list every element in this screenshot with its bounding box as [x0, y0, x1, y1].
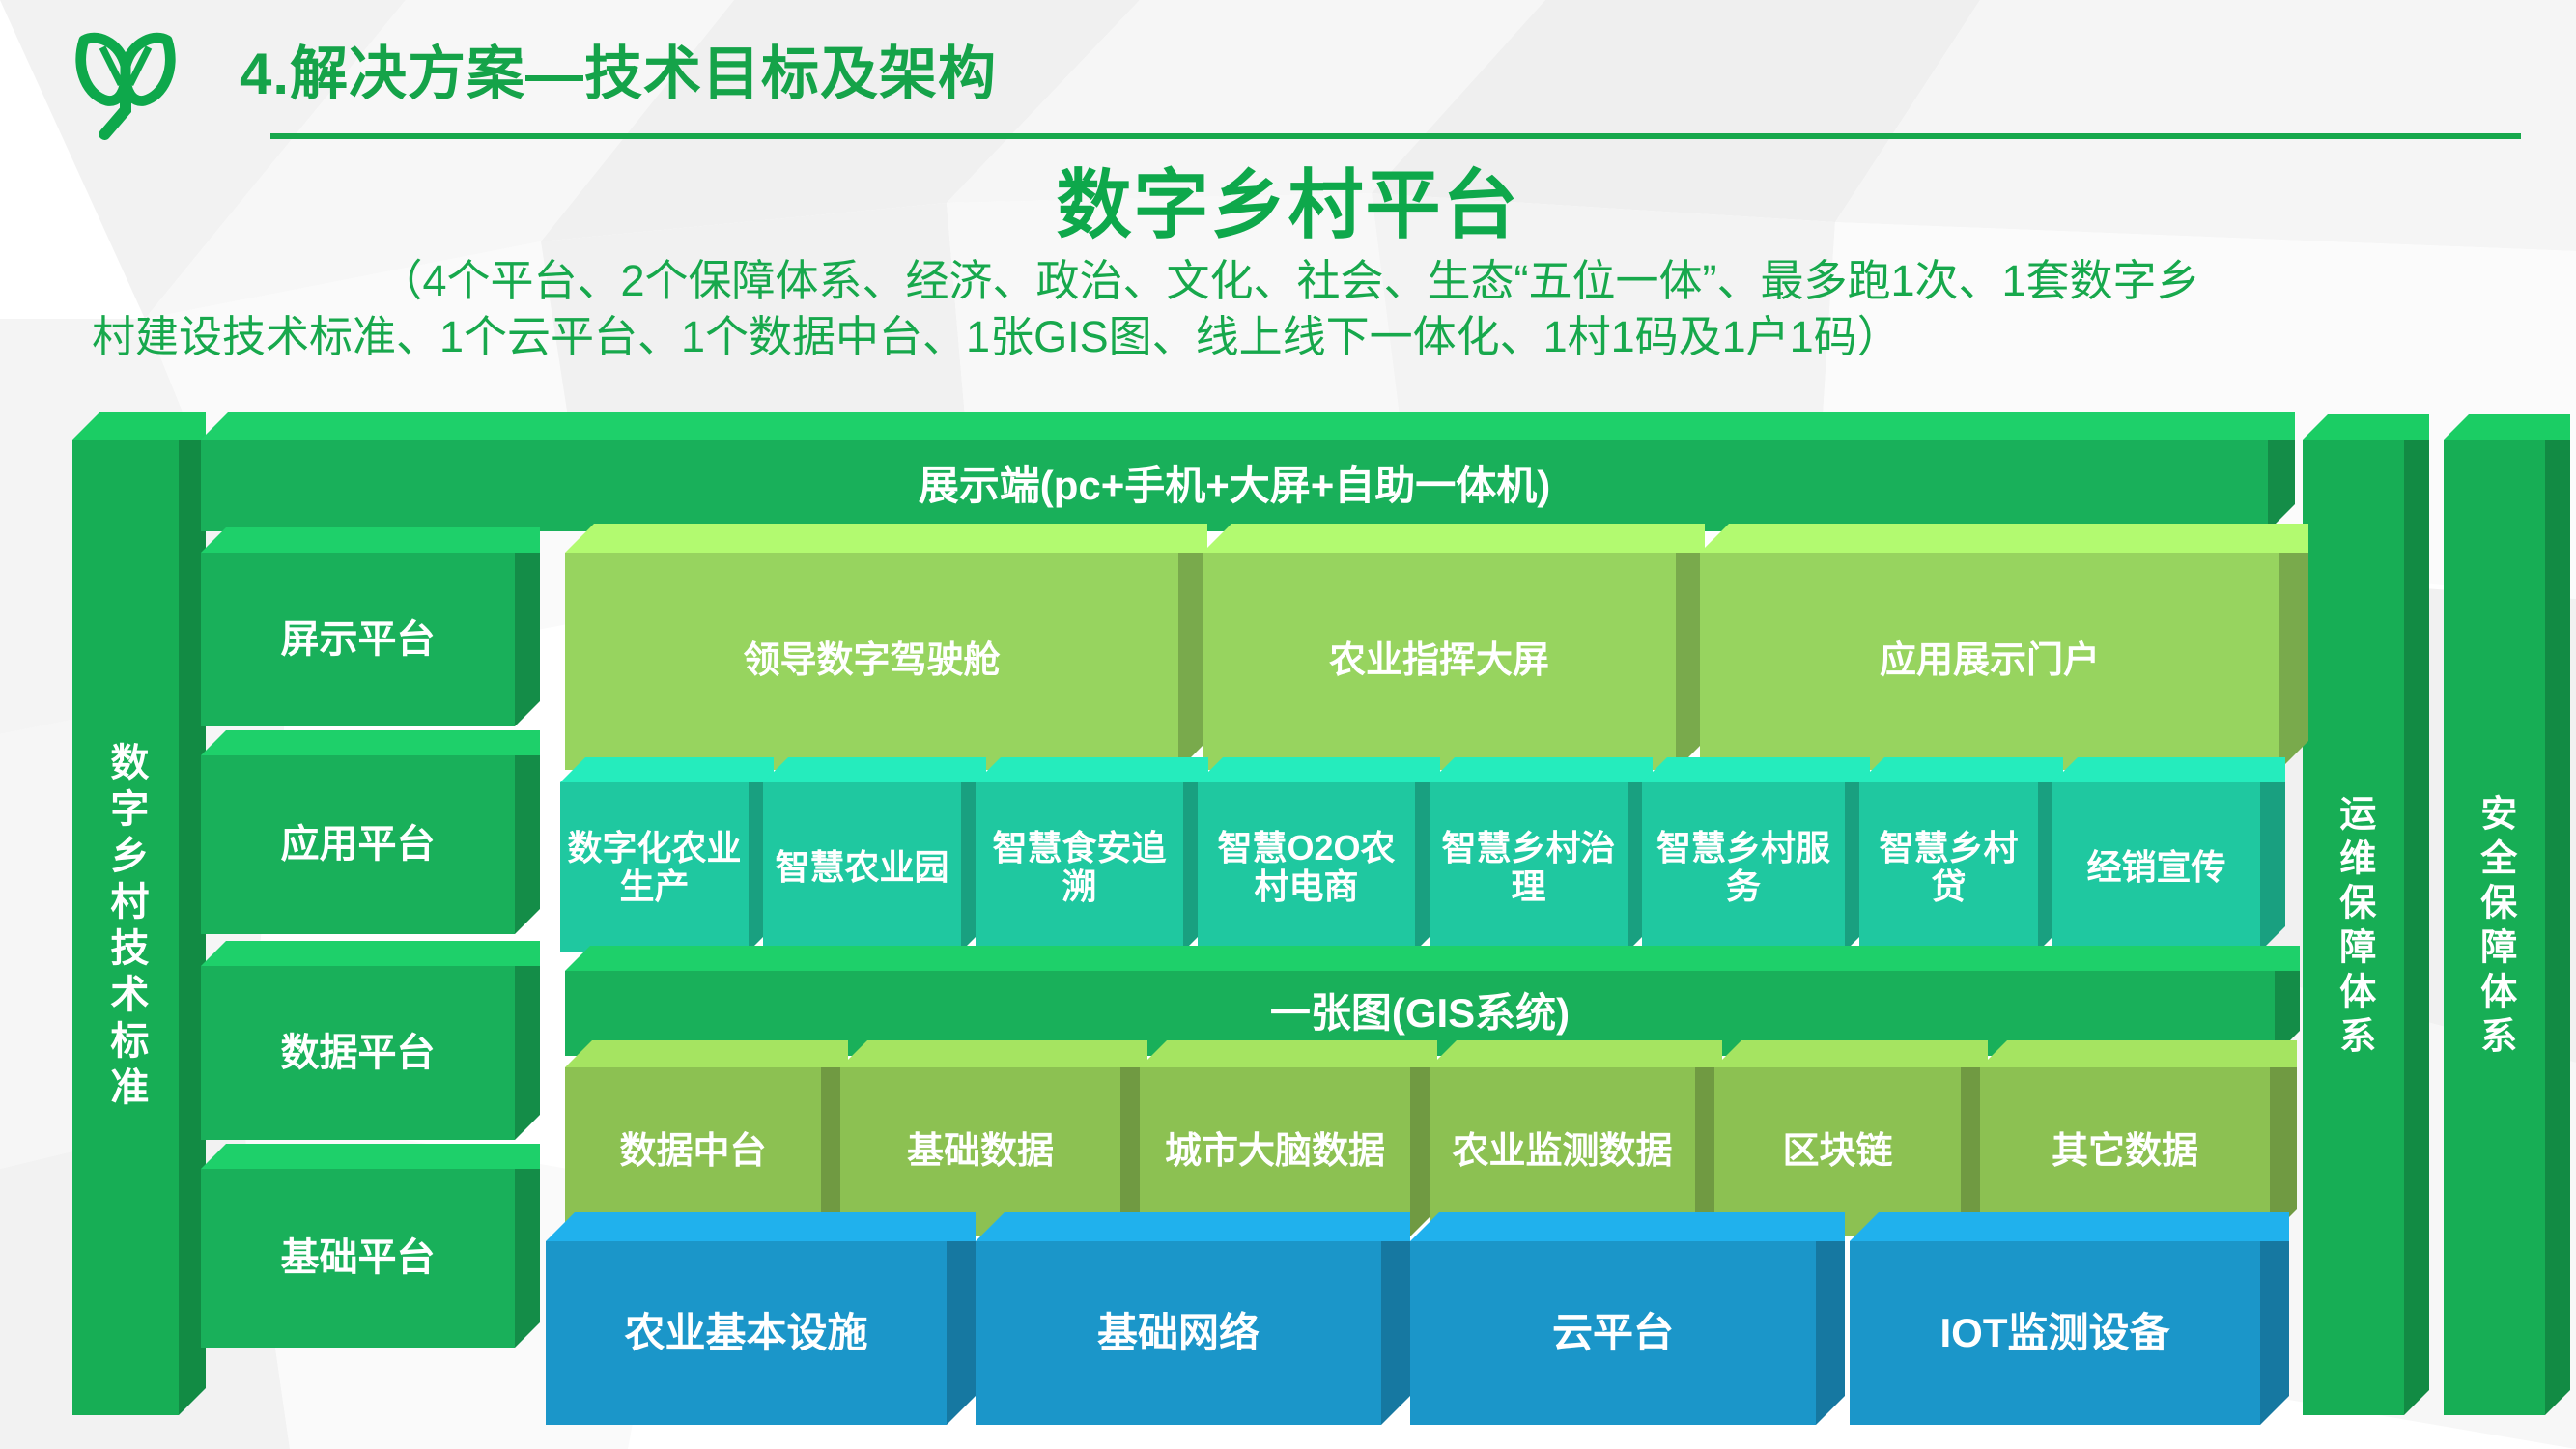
app-box-1[interactable]: 数字化农业生产: [560, 782, 749, 952]
base-box-1-label: 农业基本设施: [546, 1241, 947, 1425]
gis-band-label: 一张图(GIS系统): [565, 971, 2275, 1056]
data-box-2-label: 基础数据: [840, 1067, 1120, 1236]
app-box-7[interactable]: 智慧乡村贷: [1859, 782, 2038, 952]
box-side-face: [1816, 1241, 1845, 1425]
box-side-face: [2268, 440, 2295, 531]
data-box-3[interactable]: 城市大脑数据: [1140, 1067, 1410, 1236]
display-box-1[interactable]: 领导数字驾驶舱: [565, 553, 1178, 770]
box-top-face: [201, 412, 2295, 440]
layer-label-data-platform-label: 数据平台: [201, 966, 515, 1140]
box-top-face: [2303, 414, 2429, 440]
architecture-diagram: 数字乡村技术标准运维保障体系安全保障体系展示端(pc+手机+大屏+自助一体机)屏…: [0, 0, 2576, 1449]
app-box-3-label: 智慧食安追溯: [976, 782, 1183, 952]
base-box-1[interactable]: 农业基本设施: [546, 1241, 947, 1425]
box-side-face: [2260, 1241, 2289, 1425]
app-box-4[interactable]: 智慧O2O农村电商: [1198, 782, 1415, 952]
base-box-2-label: 基础网络: [976, 1241, 1381, 1425]
app-box-6[interactable]: 智慧乡村服务: [1642, 782, 1845, 952]
layer-label-base-platform-label: 基础平台: [201, 1169, 515, 1348]
box-side-face: [947, 1241, 976, 1425]
app-box-5-label: 智慧乡村治理: [1430, 782, 1628, 952]
right-pillar-ops-assurance-label: 运维保障体系: [2303, 440, 2404, 1415]
top-band-display-terminal-label: 展示端(pc+手机+大屏+自助一体机): [201, 440, 2268, 531]
app-box-2-label: 智慧农业园: [763, 782, 961, 952]
base-box-4[interactable]: IOT监测设备: [1850, 1241, 2260, 1425]
data-box-5-label: 区块链: [1714, 1067, 1961, 1236]
box-side-face: [2545, 440, 2570, 1415]
base-box-3[interactable]: 云平台: [1410, 1241, 1816, 1425]
app-box-1-label: 数字化农业生产: [560, 782, 749, 952]
data-box-4-label: 农业监测数据: [1430, 1067, 1695, 1236]
display-box-3[interactable]: 应用展示门户: [1700, 553, 2279, 770]
left-pillar-tech-standard[interactable]: 数字乡村技术标准: [72, 440, 179, 1415]
data-box-6-label: 其它数据: [1980, 1067, 2270, 1236]
display-box-3-label: 应用展示门户: [1700, 553, 2279, 770]
box-top-face: [72, 412, 206, 440]
top-band-display-terminal[interactable]: 展示端(pc+手机+大屏+自助一体机): [201, 440, 2268, 531]
box-top-face: [201, 941, 540, 966]
left-pillar-tech-standard-label: 数字乡村技术标准: [72, 440, 179, 1415]
layer-label-application-platform[interactable]: 应用平台: [201, 755, 515, 934]
box-side-face: [2404, 440, 2429, 1415]
app-box-4-label: 智慧O2O农村电商: [1198, 782, 1415, 952]
layer-label-display-platform-label: 屏示平台: [201, 553, 515, 726]
app-box-8-label: 经销宣传: [2052, 782, 2260, 952]
box-side-face: [2260, 782, 2285, 952]
box-top-face: [201, 1144, 540, 1169]
app-box-7-label: 智慧乡村贷: [1859, 782, 2038, 952]
app-box-2[interactable]: 智慧农业园: [763, 782, 961, 952]
box-side-face: [515, 755, 540, 934]
base-box-3-label: 云平台: [1410, 1241, 1816, 1425]
base-box-4-label: IOT监测设备: [1850, 1241, 2260, 1425]
layer-label-base-platform[interactable]: 基础平台: [201, 1169, 515, 1348]
right-pillar-security-assurance[interactable]: 安全保障体系: [2444, 440, 2545, 1415]
app-box-5[interactable]: 智慧乡村治理: [1430, 782, 1628, 952]
app-box-6-label: 智慧乡村服务: [1642, 782, 1845, 952]
data-box-6[interactable]: 其它数据: [1980, 1067, 2270, 1236]
data-box-3-label: 城市大脑数据: [1140, 1067, 1410, 1236]
data-box-1[interactable]: 数据中台: [565, 1067, 821, 1236]
data-box-1-label: 数据中台: [565, 1067, 821, 1236]
data-box-4[interactable]: 农业监测数据: [1430, 1067, 1695, 1236]
right-pillar-ops-assurance[interactable]: 运维保障体系: [2303, 440, 2404, 1415]
layer-label-display-platform[interactable]: 屏示平台: [201, 553, 515, 726]
gis-band[interactable]: 一张图(GIS系统): [565, 971, 2275, 1056]
box-top-face: [2444, 414, 2570, 440]
display-box-2[interactable]: 农业指挥大屏: [1203, 553, 1676, 770]
layer-label-data-platform[interactable]: 数据平台: [201, 966, 515, 1140]
display-box-1-label: 领导数字驾驶舱: [565, 553, 1178, 770]
app-box-3[interactable]: 智慧食安追溯: [976, 782, 1183, 952]
box-top-face: [201, 730, 540, 755]
app-box-8[interactable]: 经销宣传: [2052, 782, 2260, 952]
box-side-face: [2270, 1067, 2297, 1236]
right-pillar-security-assurance-label: 安全保障体系: [2444, 440, 2545, 1415]
base-box-2[interactable]: 基础网络: [976, 1241, 1381, 1425]
box-side-face: [515, 966, 540, 1140]
box-side-face: [1381, 1241, 1410, 1425]
layer-label-application-platform-label: 应用平台: [201, 755, 515, 934]
data-box-2[interactable]: 基础数据: [840, 1067, 1120, 1236]
box-side-face: [515, 553, 540, 726]
box-side-face: [515, 1169, 540, 1348]
display-box-2-label: 农业指挥大屏: [1203, 553, 1676, 770]
data-box-5[interactable]: 区块链: [1714, 1067, 1961, 1236]
